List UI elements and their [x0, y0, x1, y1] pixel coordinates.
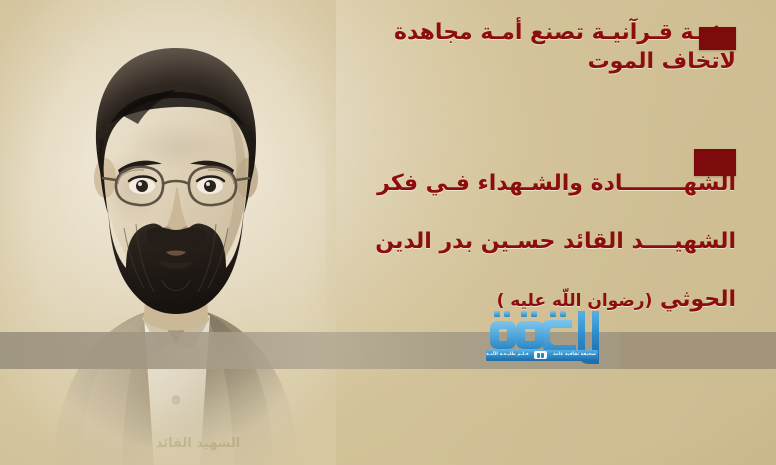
- headline-secondary-line-1: الشهــــــــادة والشـهداء فـي فكر: [375, 169, 736, 198]
- headline-secondary-line-2: الشهيــــد القائد حسـين بدر الدين: [375, 227, 736, 256]
- red-bar-marker-1: [699, 27, 736, 50]
- headline-primary: رؤيـة قـرآنيـة تصنع أمـة مجاهدة لاتخاف ا…: [394, 18, 736, 76]
- logo-tagline: صحيفة ثقافية عامة قـلـم طليـعـة الأمـة: [486, 350, 596, 360]
- logo-tagline-left: قـلـم طليـعـة الأمـة: [486, 350, 529, 360]
- gray-band-right-block: [620, 332, 776, 369]
- logo-tagline-separator-icon: [534, 351, 547, 359]
- subject-name: الحوثي: [660, 287, 736, 312]
- logo-tagline-right: صحيفة ثقافية عامة: [553, 350, 596, 360]
- headline-column: رؤيـة قـرآنيـة تصنع أمـة مجاهدة لاتخاف ا…: [336, 0, 736, 465]
- poster-canvas: الشهيد القائد رؤيـة قـرآنيـة تصنع أمـة م…: [0, 0, 776, 465]
- red-bar-marker-2: [694, 149, 736, 176]
